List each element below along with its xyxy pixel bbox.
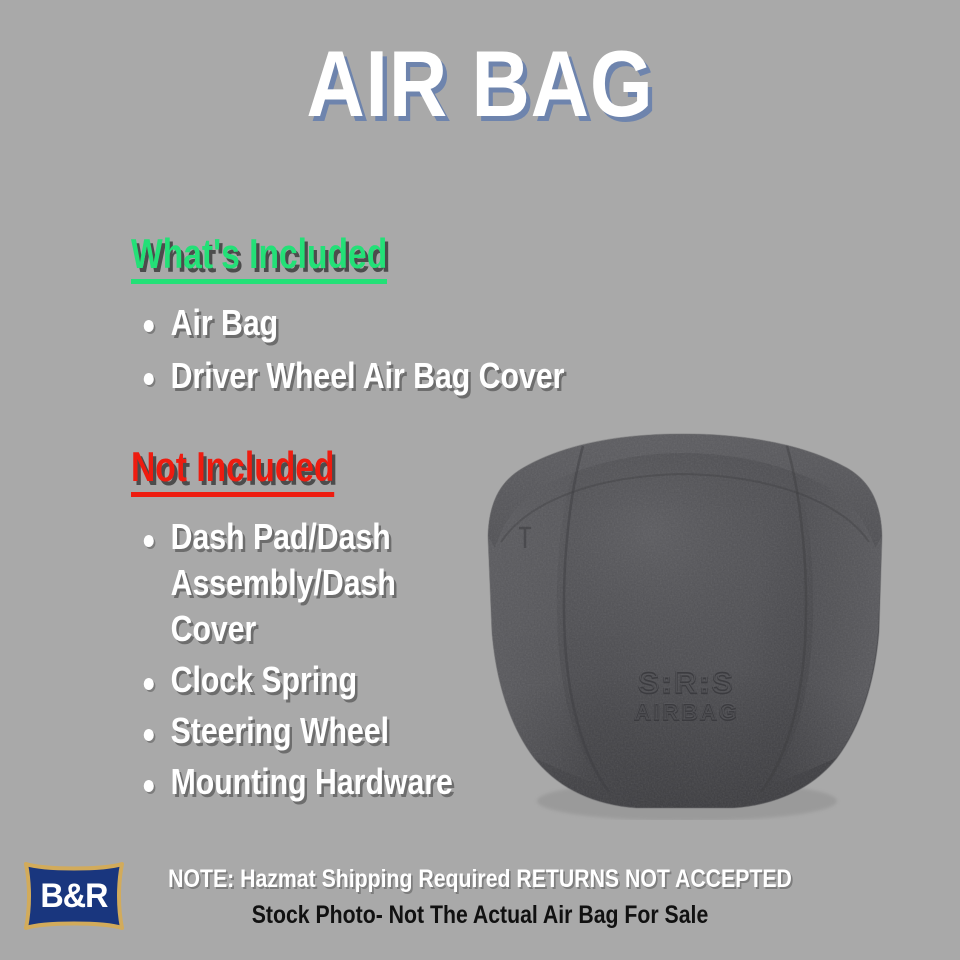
hazmat-note: NOTE: Hazmat Shipping Required RETURNS N…	[72, 865, 888, 893]
list-item: Clock Spring	[137, 657, 490, 703]
page-title: AIR BAG	[67, 34, 893, 134]
srs-airbag-emboss: S:R:S S:R:S AIRBAG AIRBAG	[635, 666, 740, 725]
stock-photo-note: Stock Photo- Not The Actual Air Bag For …	[72, 901, 888, 929]
air-bag-product-photo: S:R:S S:R:S AIRBAG AIRBAG	[465, 420, 905, 820]
list-item: Steering Wheel	[137, 708, 490, 754]
leather-grain	[465, 420, 905, 820]
list-item: Dash Pad/Dash Assembly/Dash Cover	[137, 514, 490, 652]
svg-text:S:R:S: S:R:S	[639, 666, 736, 699]
included-list: Air Bag Driver Wheel Air Bag Cover	[137, 299, 646, 405]
air-bag-body: S:R:S S:R:S AIRBAG AIRBAG	[465, 420, 905, 820]
list-item: Driver Wheel Air Bag Cover	[137, 352, 564, 400]
logo-shield	[26, 864, 122, 928]
section-heading-included: What's Included	[131, 231, 387, 284]
list-item: Air Bag	[137, 299, 564, 347]
br-logo: B&R	[22, 860, 126, 932]
list-item: Mounting Hardware	[137, 759, 490, 805]
air-bag-listing-graphic: AIR BAG What's Included Air Bag Driver W…	[0, 0, 960, 960]
svg-text:AIRBAG: AIRBAG	[635, 699, 740, 724]
section-heading-not-included: Not Included	[131, 444, 334, 497]
